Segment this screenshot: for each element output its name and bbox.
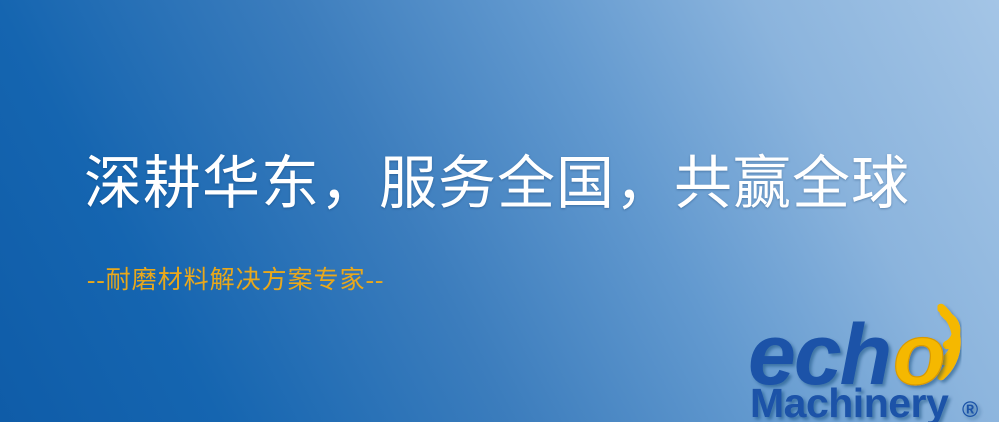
logo-subword-machinery: Machinery	[750, 380, 949, 422]
echo-machinery-logo[interactable]: ech o Machinery ®	[748, 292, 999, 422]
banner-subtitle: --耐磨材料解决方案专家--	[87, 268, 384, 293]
promo-banner: 深耕华东，服务全国，共赢全球 --耐磨材料解决方案专家-- ech o	[0, 0, 999, 422]
page-title: 深耕华东，服务全国，共赢全球	[84, 155, 910, 213]
logo-registered-mark: ®	[962, 397, 978, 422]
